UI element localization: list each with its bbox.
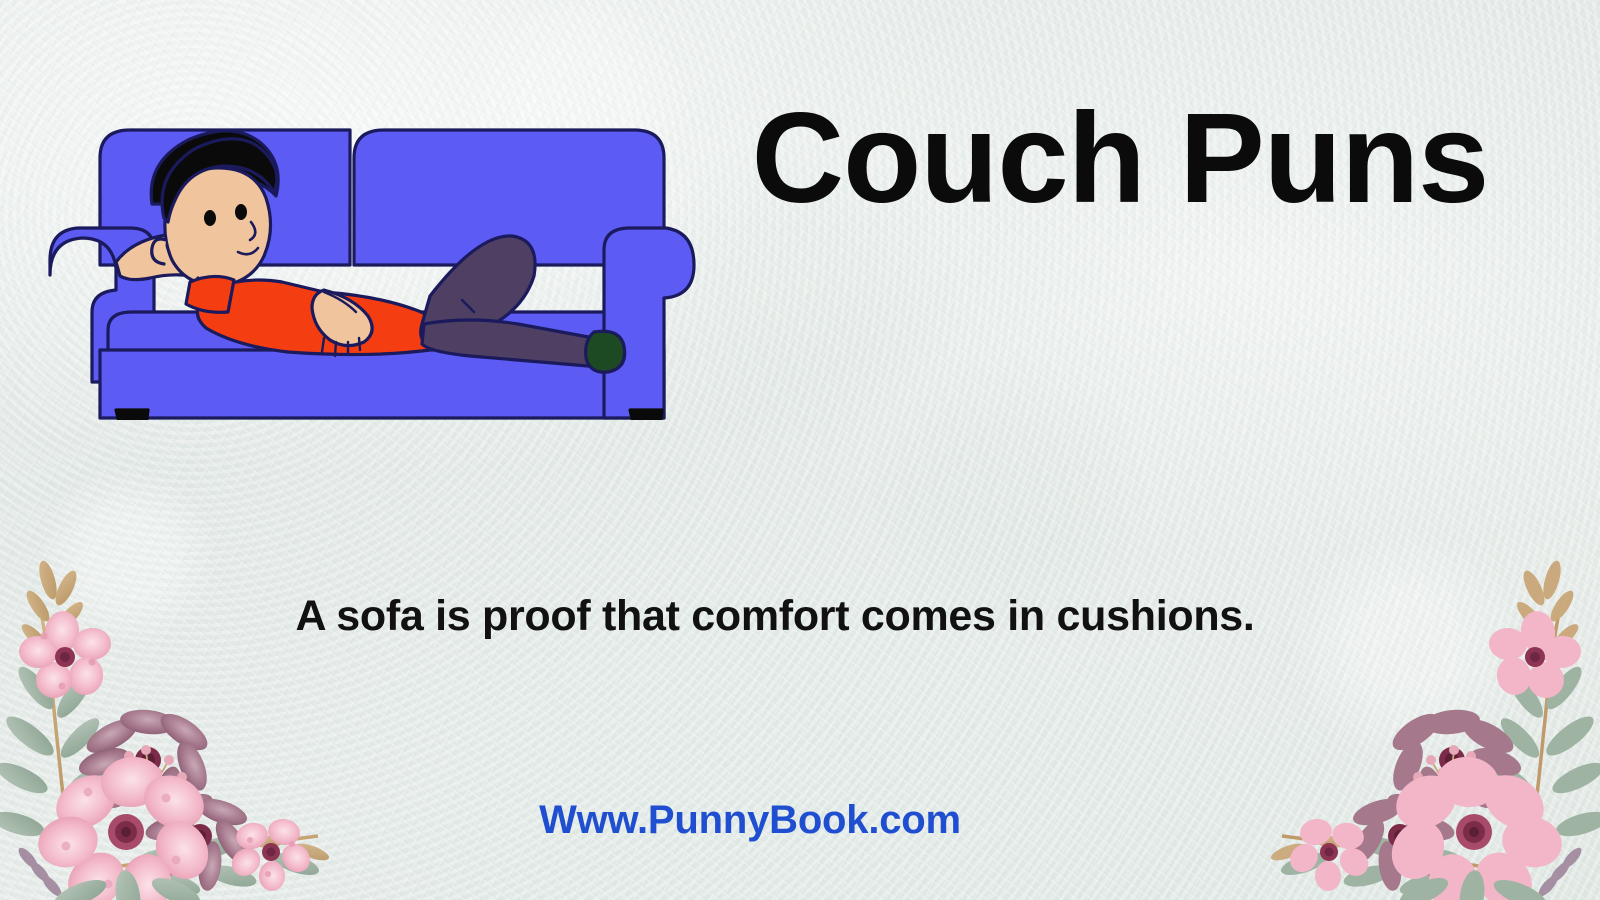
person-eye-left (204, 210, 216, 226)
couch-armrest-right (604, 228, 694, 418)
person-sock (586, 331, 625, 372)
poster-canvas: Couch Puns A sofa is proof that comfort … (0, 0, 1600, 900)
couch-leg-left (116, 410, 148, 420)
person-finger-4 (359, 338, 360, 350)
couch-illustration (38, 100, 698, 420)
person-eye-right (235, 204, 247, 220)
floral-corner-bottom-right (1270, 540, 1600, 900)
person-ear (152, 239, 166, 264)
floral-corner-bottom-left (0, 540, 330, 900)
page-title: Couch Puns (700, 92, 1540, 226)
person-sleeve (186, 276, 234, 312)
person-finger-2 (335, 342, 336, 356)
couch-leg-right (630, 410, 662, 420)
